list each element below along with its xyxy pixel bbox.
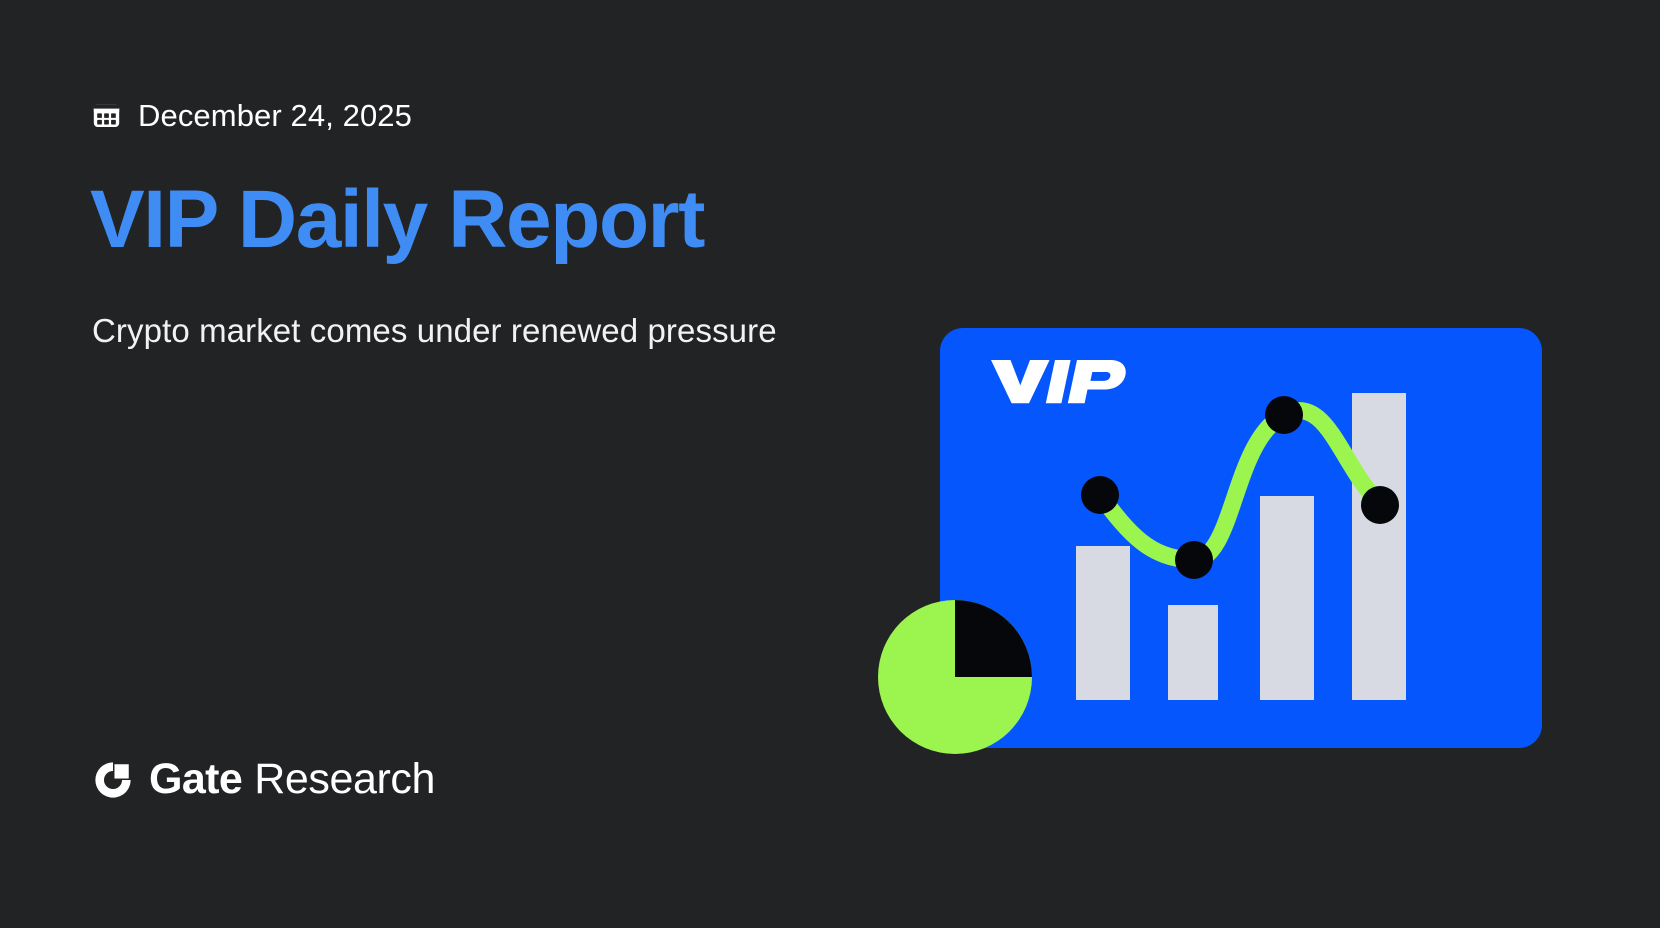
data-point [1265, 396, 1303, 434]
page-subtitle: Crypto market comes under renewed pressu… [92, 308, 852, 354]
brand-wordmark: Gate Research [149, 758, 435, 801]
vip-illustration [872, 320, 1562, 780]
bar-1 [1076, 546, 1130, 700]
gate-logo-icon [92, 759, 134, 801]
report-date: December 24, 2025 [138, 100, 412, 131]
bar-3 [1260, 496, 1314, 700]
data-point [1175, 541, 1213, 579]
bar-2 [1168, 605, 1218, 700]
brand-suffix: Research [254, 758, 435, 801]
data-point [1081, 476, 1119, 514]
brand-name: Gate [149, 758, 242, 801]
brand-lockup: Gate Research [92, 758, 435, 801]
date-row: December 24, 2025 [92, 100, 412, 131]
calendar-icon [92, 101, 121, 130]
poster-canvas: December 24, 2025 VIP Daily Report Crypt… [0, 0, 1660, 928]
data-point [1361, 486, 1399, 524]
page-title: VIP Daily Report [90, 177, 704, 263]
pie-chart-shape [878, 600, 1032, 754]
bar-4 [1352, 393, 1406, 700]
